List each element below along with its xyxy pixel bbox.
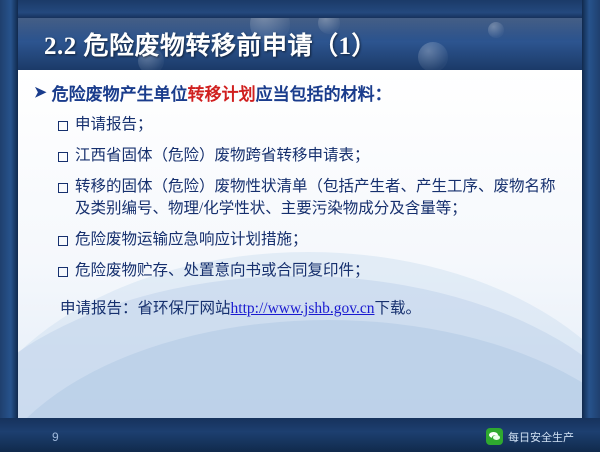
square-bullet-icon bbox=[58, 267, 68, 277]
square-bullet-icon bbox=[58, 183, 68, 193]
headline-bullet: ➤ 危险废物产生单位转移计划应当包括的材料： bbox=[34, 84, 564, 105]
list-item-label: 江西省固体（危险）废物跨省转移申请表； bbox=[75, 145, 564, 167]
list-item: 申请报告； bbox=[58, 114, 564, 136]
website-link[interactable]: http://www.jshb.gov.cn bbox=[231, 300, 375, 317]
list-item: 江西省固体（危险）废物跨省转移申请表； bbox=[58, 145, 564, 167]
list-item: 危险废物贮存、处置意向书或合同复印件； bbox=[58, 260, 564, 282]
square-bullet-icon bbox=[58, 121, 68, 131]
banner-bubble-icon bbox=[418, 42, 448, 70]
note-text-before: 省环保厅网站 bbox=[138, 300, 231, 317]
square-bullet-icon bbox=[58, 152, 68, 162]
slide-canvas: 2.2 危险废物转移前申请（1） ➤ 危险废物产生单位转移计划应当包括的材料： … bbox=[0, 0, 600, 452]
slide-content: ➤ 危险废物产生单位转移计划应当包括的材料： 申请报告； 江西省固体（危险）废物… bbox=[18, 70, 582, 418]
page-number: 9 bbox=[52, 430, 59, 444]
list-item-label: 危险废物贮存、处置意向书或合同复印件； bbox=[75, 260, 564, 282]
frame-left-border bbox=[0, 0, 18, 452]
headline-text: 危险废物产生单位转移计划应当包括的材料： bbox=[52, 84, 392, 105]
list-item-label: 转移的固体（危险）废物性状清单（包括产生者、产生工序、废物名称及类别编号、物理/… bbox=[75, 176, 564, 220]
wechat-icon bbox=[486, 428, 503, 445]
headline-highlight: 转移计划 bbox=[188, 85, 256, 104]
arrow-bullet-icon: ➤ bbox=[34, 84, 47, 104]
watermark: 每日安全生产 bbox=[486, 428, 574, 445]
headline-prefix: 危险废物产生单位 bbox=[52, 85, 188, 104]
frame-top-border bbox=[0, 0, 600, 18]
list-item: 危险废物运输应急响应计划措施； bbox=[58, 229, 564, 251]
note-text-after: 下载。 bbox=[374, 300, 421, 317]
content-body: ➤ 危险废物产生单位转移计划应当包括的材料： 申请报告； 江西省固体（危险）废物… bbox=[18, 70, 582, 320]
title-banner: 2.2 危险废物转移前申请（1） bbox=[18, 18, 582, 70]
list-item: 转移的固体（危险）废物性状清单（包括产生者、产生工序、废物名称及类别编号、物理/… bbox=[58, 176, 564, 220]
watermark-label: 每日安全生产 bbox=[508, 429, 574, 445]
note-label: 申请报告： bbox=[60, 300, 138, 317]
list-item-label: 申请报告； bbox=[75, 114, 564, 136]
application-note: 申请报告：省环保厅网站http://www.jshb.gov.cn下载。 bbox=[60, 298, 564, 320]
frame-right-border bbox=[582, 0, 600, 452]
banner-bubble-icon bbox=[488, 22, 504, 38]
list-item-label: 危险废物运输应急响应计划措施； bbox=[75, 229, 564, 251]
page-title: 2.2 危险废物转移前申请（1） bbox=[44, 26, 377, 62]
headline-suffix: 应当包括的材料： bbox=[256, 85, 392, 104]
square-bullet-icon bbox=[58, 236, 68, 246]
